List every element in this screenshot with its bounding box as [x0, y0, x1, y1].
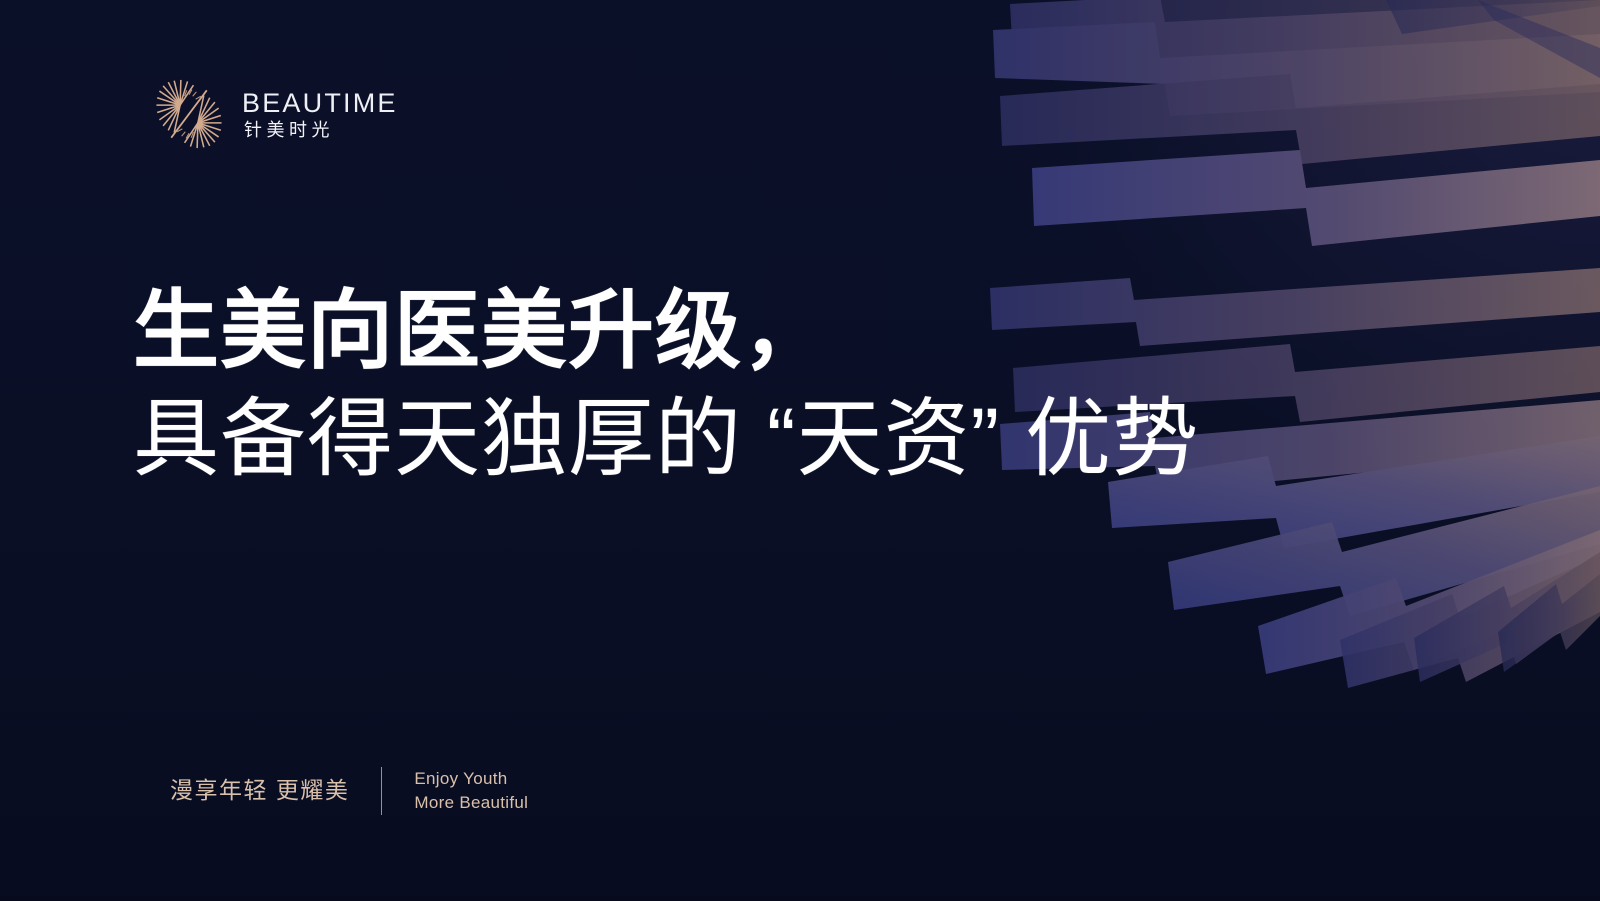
tagline-english-line-1: Enjoy Youth [414, 767, 528, 791]
beautime-radial-burst-mark [152, 74, 226, 154]
tagline-english: Enjoy Youth More Beautiful [414, 767, 528, 815]
headline-line-1: 生美向医美升级， [133, 281, 1199, 382]
tagline-chinese: 漫享年轻 更耀美 [170, 777, 349, 805]
tagline-english-line-2: More Beautiful [414, 791, 528, 815]
footer-tagline: 漫享年轻 更耀美 Enjoy Youth More Beautiful [170, 767, 528, 815]
brand-logo-lockup[interactable]: BEAUTIME 针美时光 [152, 74, 398, 154]
page-title: 生美向医美升级， 具备得天独厚的 “天资” 优势 [133, 281, 1199, 492]
brand-wordmark: BEAUTIME 针美时光 [242, 87, 398, 140]
bottom-edge-band [0, 896, 1600, 901]
tagline-divider [381, 767, 382, 815]
slide-canvas: BEAUTIME 针美时光 生美向医美升级， 具备得天独厚的 “天资” 优势 漫… [0, 0, 1600, 901]
wordmark-english: BEAUTIME [242, 89, 398, 117]
wordmark-chinese: 针美时光 [242, 121, 398, 141]
headline-line-2: 具备得天独厚的 “天资” 优势 [133, 388, 1199, 491]
